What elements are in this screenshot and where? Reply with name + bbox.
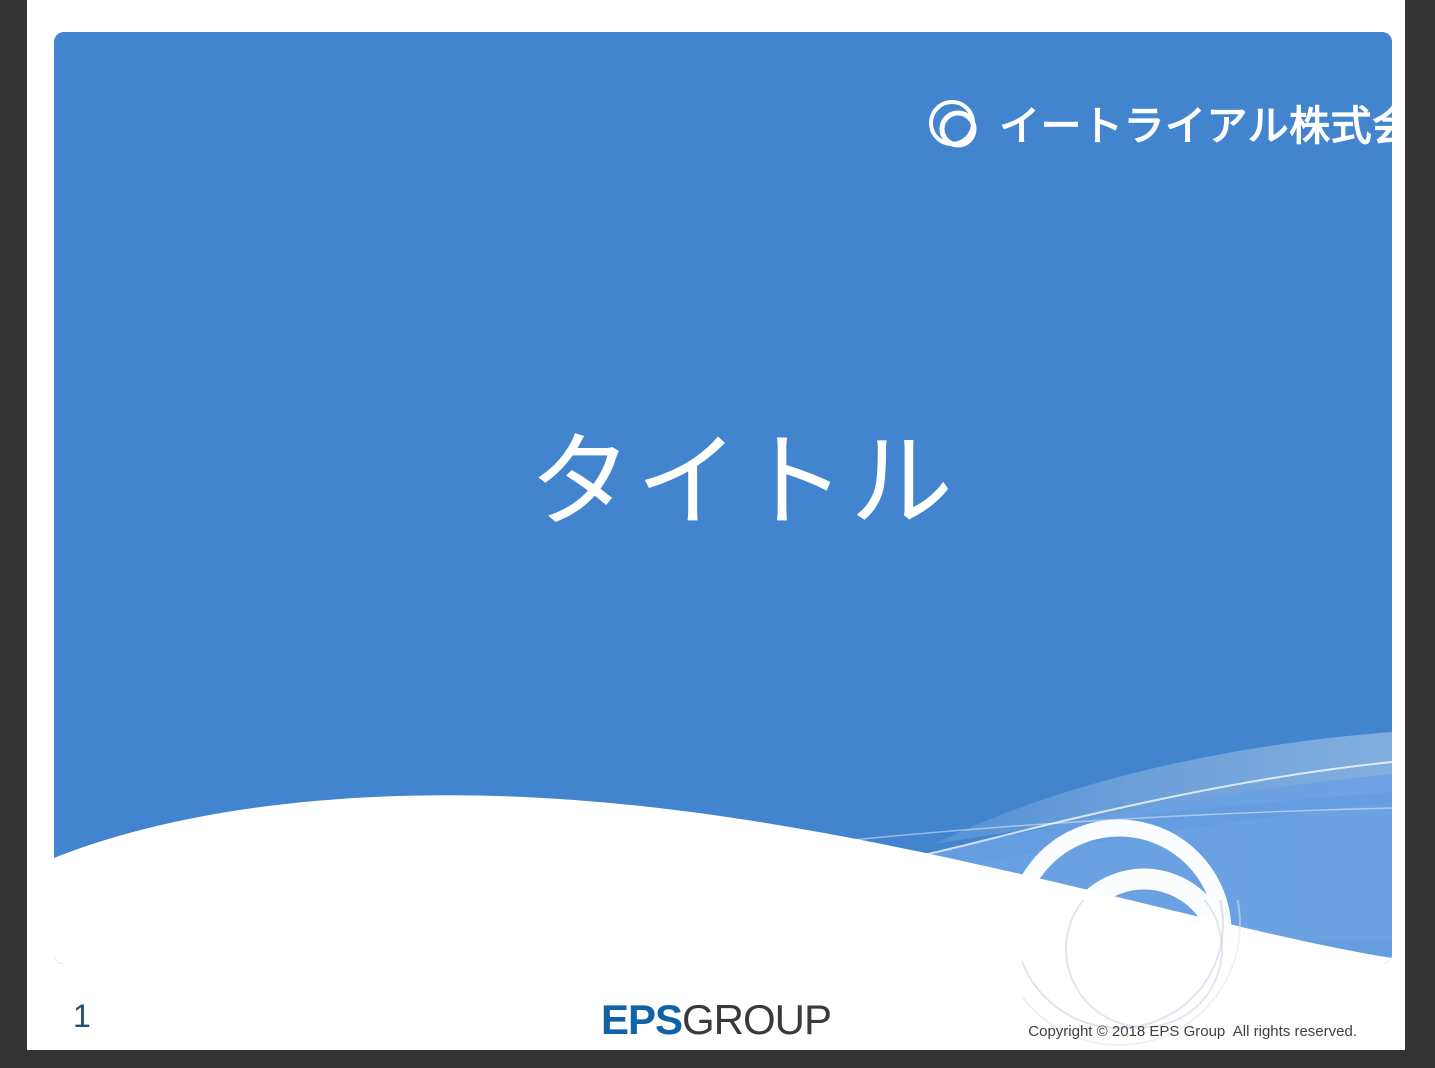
slide-content-panel: イートライアル株式会社 タイトル: [54, 32, 1392, 964]
copyright-text: Copyright © 2018 EPS Group All rights re…: [1028, 1024, 1357, 1039]
brand-logo-primary: EPS: [601, 996, 682, 1043]
page-title: タイトル: [54, 420, 1392, 544]
company-name-text: イートライアル株式会社: [999, 106, 1392, 147]
slide-page: イートライアル株式会社 タイトル 1 EPSGROUP Copyright © …: [27, 0, 1405, 1050]
brand-logo-secondary: GROUP: [682, 996, 831, 1043]
etrial-ring-logo-icon: [926, 97, 984, 155]
slide-viewer-frame: イートライアル株式会社 タイトル 1 EPSGROUP Copyright © …: [0, 0, 1435, 1068]
header-logo-lockup: イートライアル株式会社: [926, 97, 1392, 155]
